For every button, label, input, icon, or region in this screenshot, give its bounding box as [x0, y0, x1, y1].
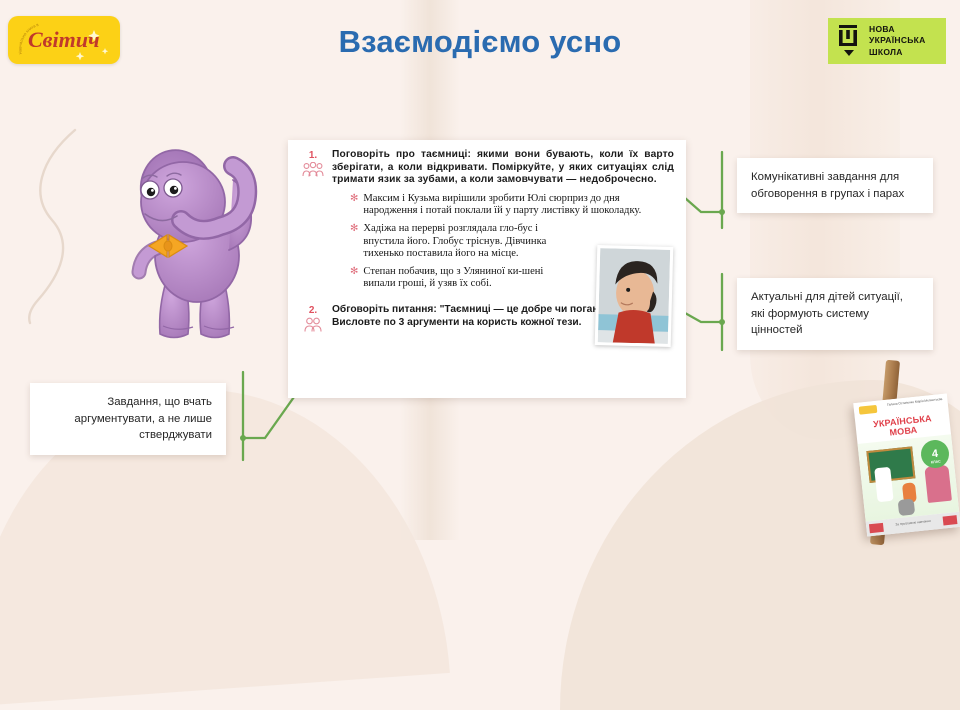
bullet-item: ✻ Максим і Кузьма вирішили зробити Юлі с… [350, 193, 674, 218]
textbook-publisher-logo [859, 405, 878, 415]
callout-communicative-tasks: Комунікативні завдання для обговорення в… [737, 158, 933, 213]
textbook-footer-mark-right [943, 515, 958, 525]
exercise-2-number: 2. [300, 305, 326, 316]
textbook-page-card: 1. Поговоріть про таємниці: якими вони б… [288, 140, 686, 398]
ukrainian-language-textbook: Галина Остапенко Марія Мелентьєва УКРАЇН… [853, 393, 960, 536]
bullet-text: Максим і Кузьма вирішили зробити Юлі сюр… [363, 193, 674, 218]
exercise-2-marker: 2. [300, 304, 326, 338]
boy-figure [874, 467, 893, 502]
textbook-authors: Галина Остапенко Марія Мелентьєва [887, 397, 943, 407]
grade-badge: 4 КЛАС [920, 439, 951, 470]
bullet-text: Хадіжа на перерві розглядала гло-бус і в… [363, 223, 559, 261]
callout-values-situations: Актуальні для дітей ситуації, які формую… [737, 278, 933, 350]
asterisk-icon: ✻ [350, 266, 358, 291]
textbook-cover-art: 4 КЛАС [858, 434, 960, 521]
background-column [750, 0, 900, 440]
exercise-1-text: Поговоріть про таємниці: якими вони бува… [332, 149, 674, 187]
grade-number: 4 [931, 448, 938, 461]
pair-of-people-icon [302, 317, 324, 333]
group-of-people-icon [302, 162, 324, 178]
page-title: Взаємодіємо усно [0, 24, 960, 60]
cat-figure [898, 499, 916, 517]
boy-shushing-photo [595, 245, 674, 347]
elephant-mascot [125, 128, 295, 353]
exercise-1-number: 1. [300, 150, 326, 161]
asterisk-icon: ✻ [350, 223, 358, 261]
bullet-text: Степан побачив, що з Уляниної ки-шені ви… [363, 266, 559, 291]
callout-argumentation: Завдання, що вчать аргументувати, а не л… [30, 383, 226, 455]
girl-figure [924, 465, 952, 503]
asterisk-icon: ✻ [350, 193, 358, 218]
exercise-1-marker: 1. [300, 149, 326, 296]
decorative-curl [20, 125, 140, 325]
grade-label: КЛАС [931, 459, 941, 464]
